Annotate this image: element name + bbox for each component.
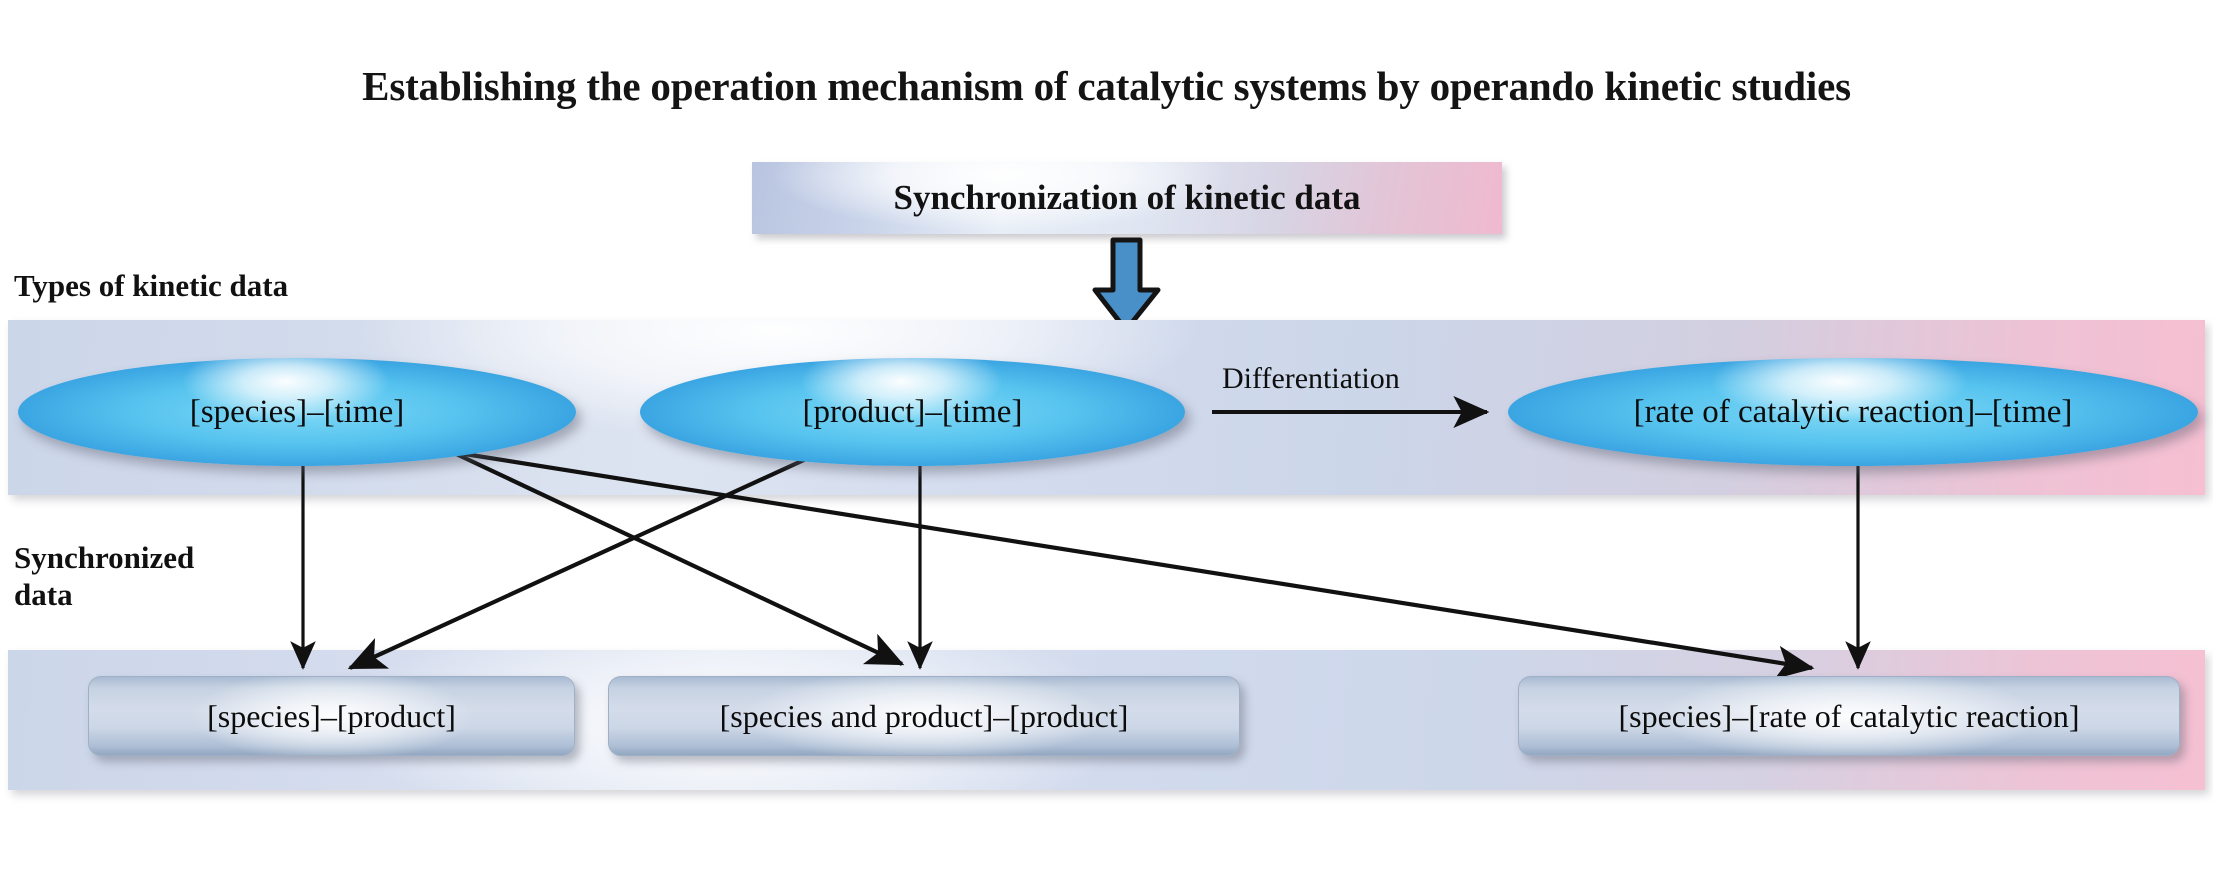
synchronization-banner: Synchronization of kinetic data [752,162,1502,234]
node-product-time[interactable]: [product]–[time] [640,358,1185,466]
node-rate-time-label: [rate of catalytic reaction]–[time] [1634,394,2073,431]
differentiation-label: Differentiation [1222,362,1400,396]
node-product-time-label: [product]–[time] [803,394,1023,431]
section-label-synchronized: Synchronized data [14,540,274,613]
synchronization-banner-label: Synchronization of kinetic data [752,162,1502,234]
node-species-rate-label: [species]–[rate of catalytic reaction] [1618,698,2079,735]
node-rate-time[interactable]: [rate of catalytic reaction]–[time] [1508,358,2198,466]
page-title: Establishing the operation mechanism of … [0,62,2213,110]
down-arrow-icon [1095,240,1158,330]
section-label-synchronized-line1: Synchronized [14,540,274,577]
section-label-synchronized-line2: data [14,577,274,614]
node-species-and-product-product-label: [species and product]–[product] [720,698,1129,735]
node-species-and-product-product[interactable]: [species and product]–[product] [608,676,1240,756]
node-species-product[interactable]: [species]–[product] [88,676,575,756]
node-species-rate[interactable]: [species]–[rate of catalytic reaction] [1518,676,2180,756]
node-species-time-label: [species]–[time] [190,394,404,431]
section-label-types: Types of kinetic data [14,268,288,305]
node-species-time[interactable]: [species]–[time] [18,358,576,466]
figure-canvas: Establishing the operation mechanism of … [0,0,2213,886]
node-species-product-label: [species]–[product] [207,698,456,735]
